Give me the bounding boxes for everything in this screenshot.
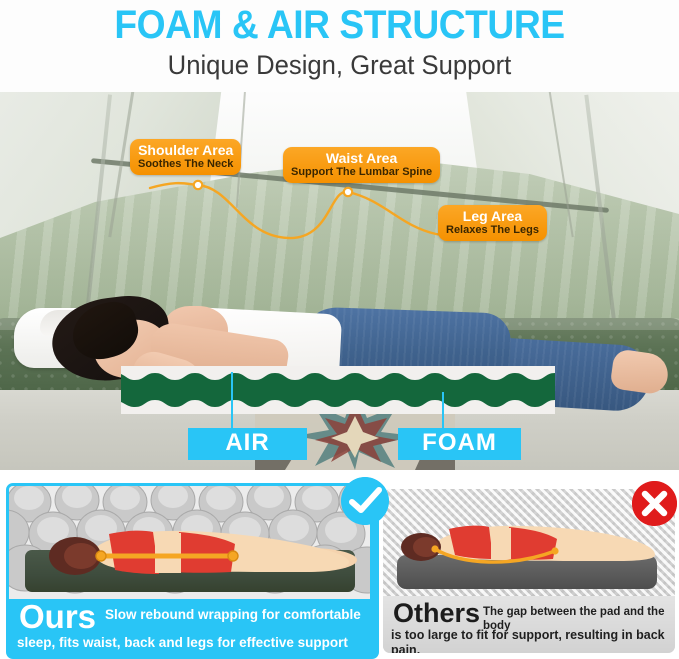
page-title: FOAM & AIR STRUCTURE	[24, 4, 655, 46]
callout-waist-title: Waist Area	[291, 150, 432, 166]
others-heading: Others	[393, 598, 480, 628]
page-subtitle: Unique Design, Great Support	[17, 50, 662, 80]
callout-shoulder[interactable]: Shoulder Area Soothes The Neck	[130, 139, 241, 175]
label-air: AIR	[188, 428, 307, 460]
ours-description-line2: sleep, fits waist, back and legs for eff…	[17, 635, 367, 651]
check-icon	[341, 477, 389, 525]
others-description-line2: is too large to fit for support, resulti…	[391, 628, 675, 653]
others-caption: Others The gap between the pad and the b…	[383, 596, 675, 653]
ours-description-line1: Slow rebound wrapping for comfortable	[105, 607, 365, 623]
comparison-panel-ours[interactable]: Ours Slow rebound wrapping for comfortab…	[6, 483, 379, 659]
x-icon	[632, 481, 677, 526]
callout-shoulder-title: Shoulder Area	[138, 142, 233, 158]
ours-illustration	[9, 486, 370, 599]
header-band: FOAM & AIR STRUCTURE Unique Design, Grea…	[0, 0, 679, 92]
infographic-page: FOAM & AIR STRUCTURE Unique Design, Grea…	[0, 0, 679, 659]
foam-leader-line	[442, 392, 444, 432]
callout-waist[interactable]: Waist Area Support The Lumbar Spine	[283, 147, 440, 183]
callout-leg[interactable]: Leg Area Relaxes The Legs	[438, 205, 547, 241]
label-foam: FOAM	[398, 428, 521, 460]
air-leader-line	[231, 372, 233, 432]
mattress-cross-section	[121, 366, 555, 414]
callout-shoulder-subtitle: Soothes The Neck	[138, 158, 233, 171]
ours-caption: Ours Slow rebound wrapping for comfortab…	[9, 599, 370, 653]
callout-leg-title: Leg Area	[446, 208, 539, 224]
callout-leg-subtitle: Relaxes The Legs	[446, 224, 539, 237]
ours-body-figure	[9, 486, 370, 599]
ours-heading: Ours	[19, 599, 96, 635]
comparison-panel-others[interactable]: Others The gap between the pad and the b…	[383, 489, 675, 653]
callout-waist-subtitle: Support The Lumbar Spine	[291, 166, 432, 179]
